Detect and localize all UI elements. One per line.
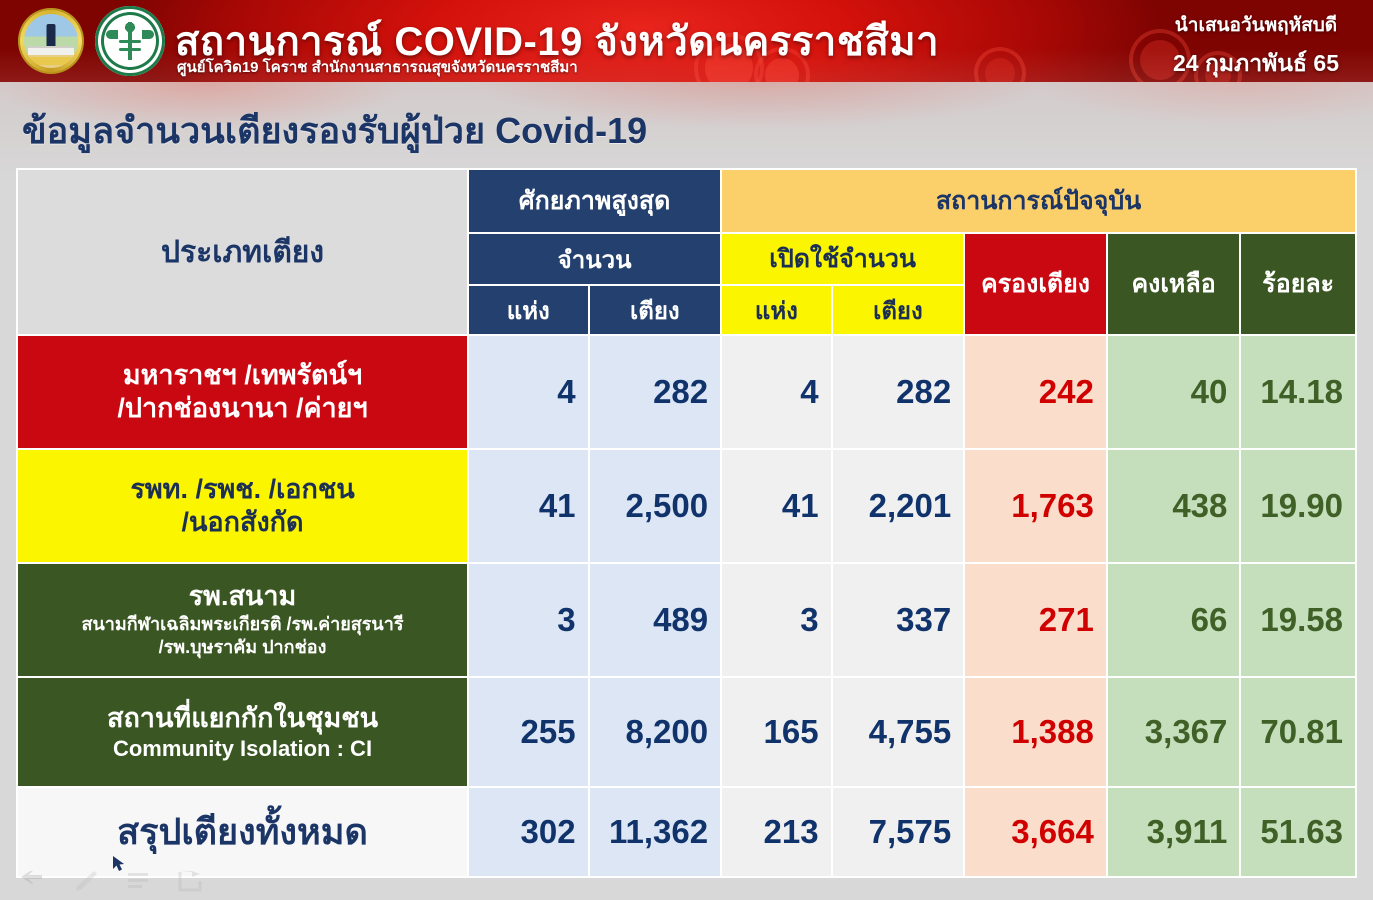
table-header-row-1: ประเภทเตียง ศักยภาพสูงสุด สถานการณ์ปัจจุ… [18,170,1355,232]
cell-capacity-places: 4 [469,336,588,448]
table-row: มหาราชฯ /เทพรัตน์ฯ /ปากช่องนานา /ค่ายฯ 4… [18,336,1355,448]
header-remaining: คงเหลือ [1108,234,1240,334]
row-label-line1: รพ.สนาม [24,580,461,613]
header-bed-type: ประเภทเตียง [18,170,467,334]
cell-total-capacity-places: 302 [469,788,588,876]
row-label-english: Community Isolation : CI [24,735,461,763]
presentation-date: นำเสนอวันพฤหัสบดี 24 กุมภาพันธ์ 65 [1173,10,1339,82]
header-inuse-places: แห่ง [722,286,830,334]
cell-inuse-places: 165 [722,678,830,786]
row-label-line1: สถานที่แยกกักในชุมชน [24,702,461,735]
row-label-community-isolation: สถานที่แยกกักในชุมชน Community Isolation… [18,678,467,786]
row-label-line1: มหาราชฯ /เทพรัตน์ฯ [24,359,461,392]
banner-subtitle: ศูนย์โควิด19 โคราช สำนักงานสาธารณสุขจังห… [177,55,578,79]
cell-percent: 14.18 [1241,336,1355,448]
row-label-line2: /นอกสังกัด [24,506,461,539]
header-percent: ร้อยละ [1241,234,1355,334]
bed-capacity-table: ประเภทเตียง ศักยภาพสูงสุด สถานการณ์ปัจจุ… [16,168,1357,878]
header-capacity-amount: จำนวน [469,234,720,284]
row-label-line1: รพท. /รพช. /เอกชน [24,473,461,506]
header-banner: สถานการณ์ COVID-19 จังหวัดนครราชสีมา ศูน… [0,0,1373,82]
date-value: 24 กุมภาพันธ์ 65 [1173,46,1339,82]
cell-capacity-beds: 282 [590,336,721,448]
cell-occupied: 242 [965,336,1106,448]
list-lines-icon[interactable] [126,870,150,892]
row-label-hospital-group-1: มหาราชฯ /เทพรัตน์ฯ /ปากช่องนานา /ค่ายฯ [18,336,467,448]
cell-capacity-places: 41 [469,450,588,562]
page-title: ข้อมูลจำนวนเตียงรองรับผู้ป่วย Covid-19 [22,102,647,159]
cell-percent: 19.58 [1241,564,1355,676]
cell-capacity-beds: 8,200 [590,678,721,786]
cell-remaining: 438 [1108,450,1240,562]
cell-occupied: 1,763 [965,450,1106,562]
row-label-sub2: /รพ.บุษราคัม ปากช่อง [24,636,461,659]
undo-arrow-icon[interactable] [20,871,46,891]
row-label-sub1: สนามกีฬาเฉลิมพระเกียรติ /รพ.ค่ายสุรนารี [24,613,461,636]
cell-remaining: 40 [1108,336,1240,448]
cell-inuse-places: 41 [722,450,830,562]
share-arrow-icon[interactable] [178,870,204,892]
cell-occupied: 1,388 [965,678,1106,786]
cell-inuse-beds: 282 [833,336,964,448]
table-row: รพ.สนาม สนามกีฬาเฉลิมพระเกียรติ /รพ.ค่าย… [18,564,1355,676]
cell-remaining: 3,367 [1108,678,1240,786]
table-row: สถานที่แยกกักในชุมชน Community Isolation… [18,678,1355,786]
row-label-total: สรุปเตียงทั้งหมด [18,788,467,876]
table-total-row: สรุปเตียงทั้งหมด 302 11,362 213 7,575 3,… [18,788,1355,876]
pen-icon[interactable] [74,870,98,892]
header-inuse-amount: เปิดใช้จำนวน [722,234,963,284]
cell-inuse-beds: 337 [833,564,964,676]
header-inuse-beds: เตียง [833,286,964,334]
cell-inuse-places: 3 [722,564,830,676]
cell-total-capacity-beds: 11,362 [590,788,721,876]
cell-capacity-beds: 2,500 [590,450,721,562]
cell-inuse-beds: 4,755 [833,678,964,786]
row-label-line1: สรุปเตียงทั้งหมด [24,810,461,854]
cell-remaining: 66 [1108,564,1240,676]
slide-canvas: สถานการณ์ COVID-19 จังหวัดนครราชสีมา ศูน… [0,0,1373,900]
header-occupied: ครองเตียง [965,234,1106,334]
cell-capacity-beds: 489 [590,564,721,676]
cell-capacity-places: 255 [469,678,588,786]
header-max-capacity: ศักยภาพสูงสุด [469,170,720,232]
header-capacity-places: แห่ง [469,286,588,334]
row-label-hospital-group-2: รพท. /รพช. /เอกชน /นอกสังกัด [18,450,467,562]
row-label-line2: /ปากช่องนานา /ค่ายฯ [24,392,461,425]
header-capacity-beds: เตียง [590,286,721,334]
cell-occupied: 271 [965,564,1106,676]
row-label-field-hospital: รพ.สนาม สนามกีฬาเฉลิมพระเกียรติ /รพ.ค่าย… [18,564,467,676]
cell-inuse-beds: 2,201 [833,450,964,562]
cell-inuse-places: 4 [722,336,830,448]
cell-percent: 70.81 [1241,678,1355,786]
cell-total-inuse-places: 213 [722,788,830,876]
cell-total-percent: 51.63 [1241,788,1355,876]
bottom-toolbar[interactable] [20,870,204,892]
cell-total-remaining: 3,911 [1108,788,1240,876]
cell-total-occupied: 3,664 [965,788,1106,876]
cell-total-inuse-beds: 7,575 [833,788,964,876]
header-current-situation: สถานการณ์ปัจจุบัน [722,170,1355,232]
date-weekday: นำเสนอวันพฤหัสบดี [1173,10,1339,40]
table-row: รพท. /รพช. /เอกชน /นอกสังกัด 41 2,500 41… [18,450,1355,562]
ministry-of-public-health-icon [95,6,165,76]
cell-percent: 19.90 [1241,450,1355,562]
province-seal-icon [18,8,84,74]
cell-capacity-places: 3 [469,564,588,676]
